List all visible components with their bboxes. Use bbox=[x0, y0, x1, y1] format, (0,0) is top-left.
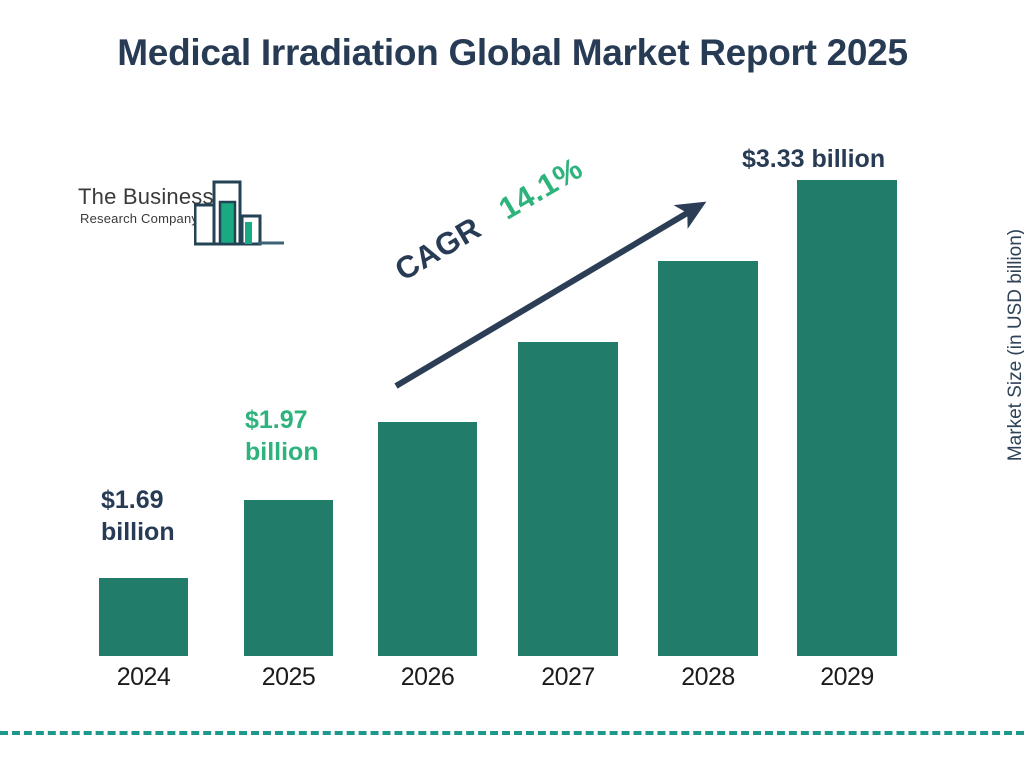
bar-chart-plot: 2024 2025 2026 2027 2028 2029 bbox=[0, 0, 1024, 768]
x-tick-2029: 2029 bbox=[782, 663, 912, 692]
bar-2029 bbox=[797, 180, 897, 656]
value-label-2025-amount: $1.97 bbox=[245, 404, 319, 436]
x-tick-2026: 2026 bbox=[363, 663, 492, 692]
value-label-2025-unit: billion bbox=[245, 436, 319, 468]
value-label-2025: $1.97 billion bbox=[245, 404, 319, 468]
value-label-2024-unit: billion bbox=[101, 516, 175, 548]
x-tick-2024: 2024 bbox=[79, 663, 208, 692]
x-tick-2027: 2027 bbox=[503, 663, 633, 692]
bar-2027 bbox=[518, 342, 618, 656]
bar-2028 bbox=[658, 261, 758, 656]
y-axis-label: Market Size (in USD billion) bbox=[1005, 185, 1024, 505]
bar-2025 bbox=[244, 500, 333, 656]
value-label-2024-amount: $1.69 bbox=[101, 484, 175, 516]
bar-2026 bbox=[378, 422, 477, 656]
value-label-2029: $3.33 billion bbox=[742, 143, 885, 175]
bar-2024 bbox=[99, 578, 188, 656]
x-tick-2028: 2028 bbox=[643, 663, 773, 692]
x-tick-2025: 2025 bbox=[224, 663, 353, 692]
footer-divider bbox=[0, 731, 1024, 735]
value-label-2024: $1.69 billion bbox=[101, 484, 175, 548]
